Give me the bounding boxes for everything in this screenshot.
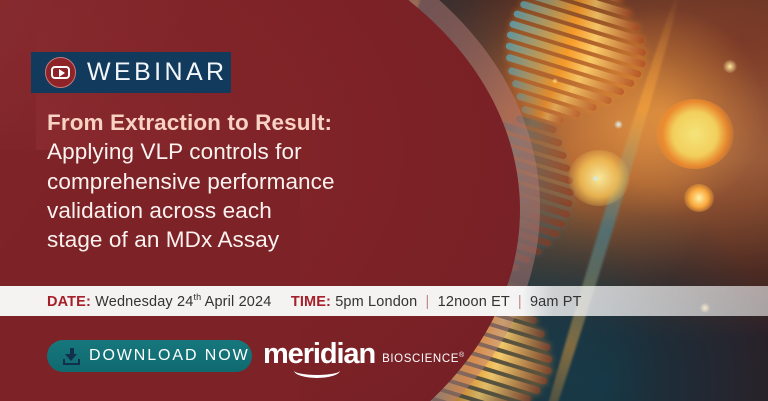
- time-et: 12noon ET: [438, 294, 510, 310]
- time-pt: 9am PT: [530, 294, 582, 310]
- webinar-badge-label: WEBINAR: [87, 58, 227, 87]
- bokeh-speck-1: [723, 60, 737, 73]
- page-title: From Extraction to Result: Applying VLP …: [47, 108, 437, 254]
- headline-line-4: validation across each: [47, 196, 437, 225]
- headline-line-1: From Extraction to Result:: [47, 108, 437, 137]
- logo-trademark: ®: [459, 352, 465, 359]
- logo-subtitle-text: BIOSCIENCE: [382, 353, 459, 365]
- time-separator-1: |: [422, 294, 434, 310]
- logo-smile-swoosh: [294, 363, 340, 378]
- download-button-label: DOWNLOAD NOW: [89, 347, 250, 365]
- headline-line-2: Applying VLP controls for: [47, 137, 437, 166]
- bokeh-speck-4: [552, 78, 558, 84]
- bokeh-light-small: [684, 184, 714, 212]
- play-icon-triangle: [59, 69, 65, 77]
- time-label: TIME:: [291, 294, 331, 310]
- bokeh-speck-3: [592, 175, 599, 182]
- download-now-button[interactable]: DOWNLOAD NOW: [47, 340, 252, 372]
- play-icon-frame: [51, 66, 70, 79]
- bokeh-speck-2: [614, 120, 623, 129]
- logo-subtitle: BIOSCIENCE®: [382, 352, 465, 369]
- date-label: DATE:: [47, 294, 91, 310]
- meridian-bioscience-logo: meridian BIOSCIENCE®: [263, 340, 465, 369]
- date-value-main: Wednesday 24: [95, 294, 193, 310]
- webinar-badge: WEBINAR: [31, 52, 231, 93]
- time-separator-2: |: [514, 294, 526, 310]
- date-value-rest: April 2024: [201, 294, 271, 310]
- bokeh-light-large: [656, 99, 734, 169]
- play-button-icon: [45, 57, 76, 88]
- time-london: 5pm London: [335, 294, 417, 310]
- headline-line-3: comprehensive performance: [47, 167, 437, 196]
- download-icon: [63, 348, 80, 365]
- date-time-bar: DATE: Wednesday 24th April 2024 TIME: 5p…: [0, 286, 768, 316]
- date-time-text: DATE: Wednesday 24th April 2024 TIME: 5p…: [0, 292, 582, 310]
- logo-wordmark-group: meridian: [263, 340, 375, 369]
- headline-line-5: stage of an MDx Assay: [47, 225, 437, 254]
- webinar-promo-banner: WEBINAR From Extraction to Result: Apply…: [0, 0, 768, 401]
- bokeh-light-medium: [568, 150, 630, 206]
